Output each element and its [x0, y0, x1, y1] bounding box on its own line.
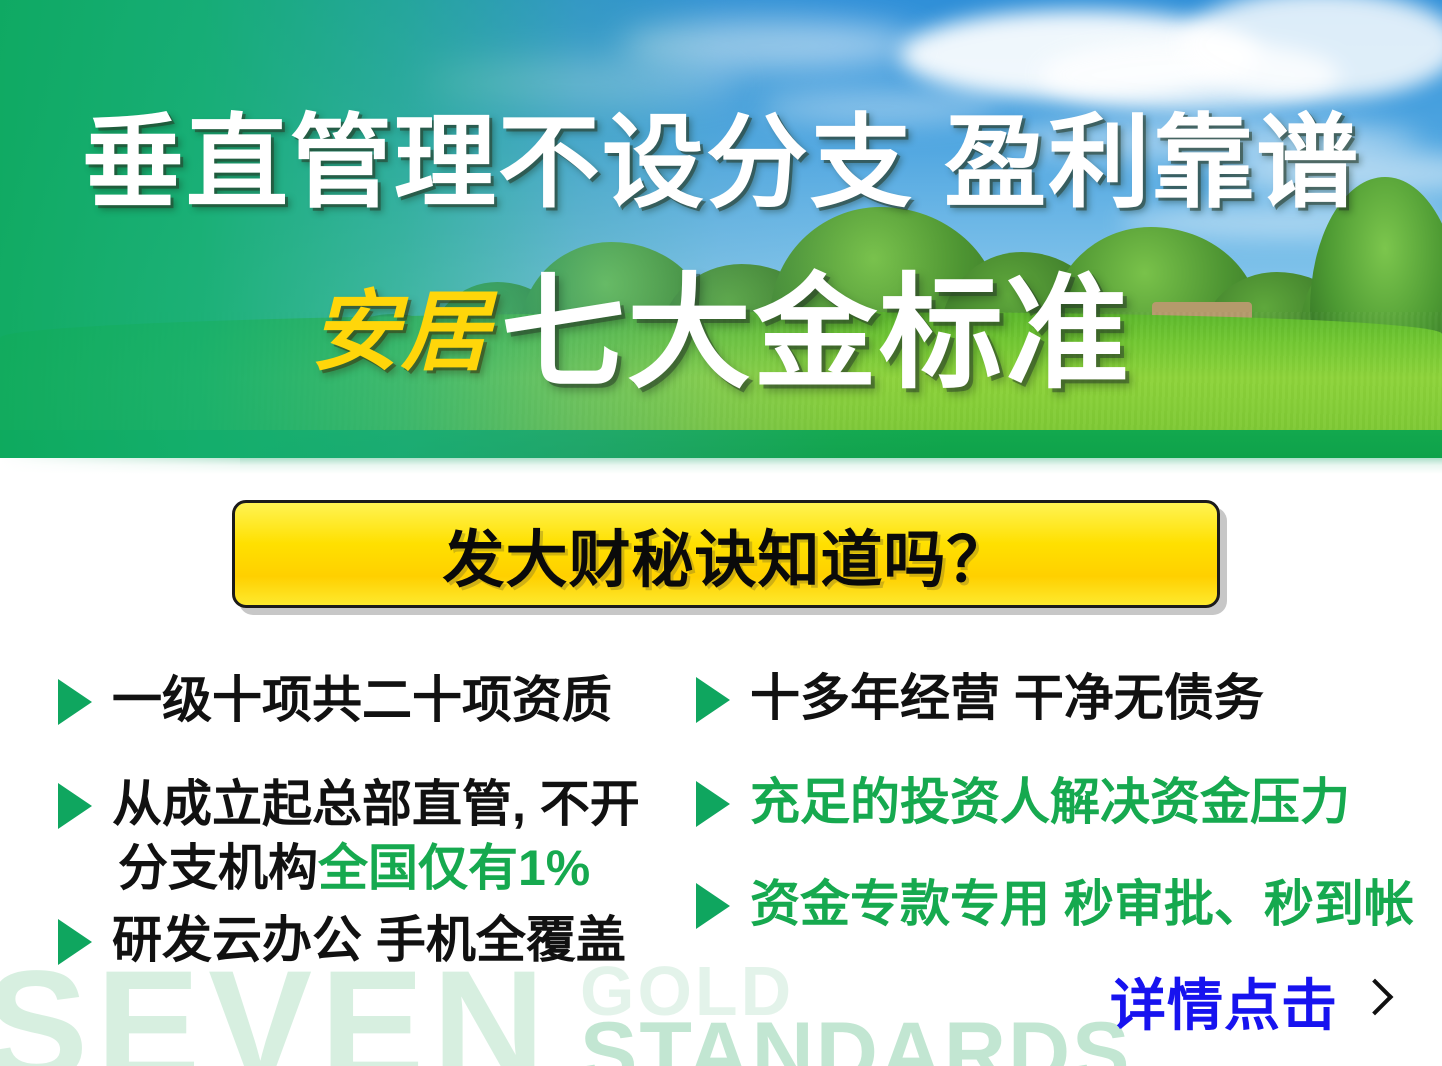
list-item-line1: 从成立起总部直管, 不开 [112, 776, 640, 832]
chevron-right-icon [1360, 979, 1386, 1025]
hero-image: 垂直管理不设分支 盈利靠谱 安居七大金标准 [0, 0, 1442, 458]
list-item-line1: 一级十项共二十项资质 [112, 672, 612, 728]
list-item-text: 研发云办公 手机全覆盖 [112, 908, 626, 972]
advertisement-banner: 垂直管理不设分支 盈利靠谱 安居七大金标准 发大财秘诀知道吗？ SEVEN GO… [0, 0, 1442, 1066]
triangle-bullet-icon [58, 679, 92, 725]
triangle-bullet-icon [58, 919, 92, 965]
list-item-line1: 研发云办公 手机全覆盖 [112, 912, 626, 968]
headline-callout-text: 发大财秘诀知道吗？ [442, 509, 1009, 599]
list-item-line2-highlight: 全国仅有1% [318, 840, 590, 896]
list-item-text: 十多年经营 干净无债务 [750, 666, 1264, 730]
triangle-bullet-icon [696, 781, 730, 827]
details-cta-link[interactable]: 详情点击 [1110, 961, 1386, 1042]
watermark-standards: STANDARDS [580, 1010, 1132, 1066]
triangle-bullet-icon [58, 783, 92, 829]
list-item: 十多年经营 干净无债务 [696, 666, 1264, 730]
list-item: 从成立起总部直管, 不开 分支机构全国仅有1% [58, 772, 640, 900]
headline-callout-banner[interactable]: 发大财秘诀知道吗？ [232, 500, 1220, 608]
triangle-bullet-icon [696, 677, 730, 723]
triangle-bullet-icon [696, 883, 730, 929]
details-cta-label: 详情点击 [1110, 961, 1338, 1042]
list-item-text: 资金专款专用 秒审批、秒到帐 [750, 872, 1414, 936]
list-item-text: 一级十项共二十项资质 [112, 668, 612, 732]
hero-headline-primary: 垂直管理不设分支 盈利靠谱 [0, 112, 1442, 214]
list-item-line2-prefix: 分支机构 [118, 840, 318, 896]
list-item-text: 从成立起总部直管, 不开 分支机构全国仅有1% [112, 772, 640, 900]
hero-headline-standards: 七大金标准 [501, 272, 1131, 396]
brand-name: 安居 [311, 287, 491, 375]
list-item: 一级十项共二十项资质 [58, 668, 612, 732]
list-item: 研发云办公 手机全覆盖 [58, 908, 626, 972]
hero-shadow [0, 458, 1442, 474]
hero-headline-secondary: 安居七大金标准 [0, 272, 1442, 396]
list-item: 资金专款专用 秒审批、秒到帐 [696, 872, 1414, 936]
list-item-text: 充足的投资人解决资金压力 [750, 770, 1350, 834]
list-item: 充足的投资人解决资金压力 [696, 770, 1350, 834]
list-item-line2: 分支机构全国仅有1% [118, 836, 640, 900]
feature-list: 一级十项共二十项资质 从成立起总部直管, 不开 分支机构全国仅有1% 研发云办公… [0, 640, 1442, 1000]
